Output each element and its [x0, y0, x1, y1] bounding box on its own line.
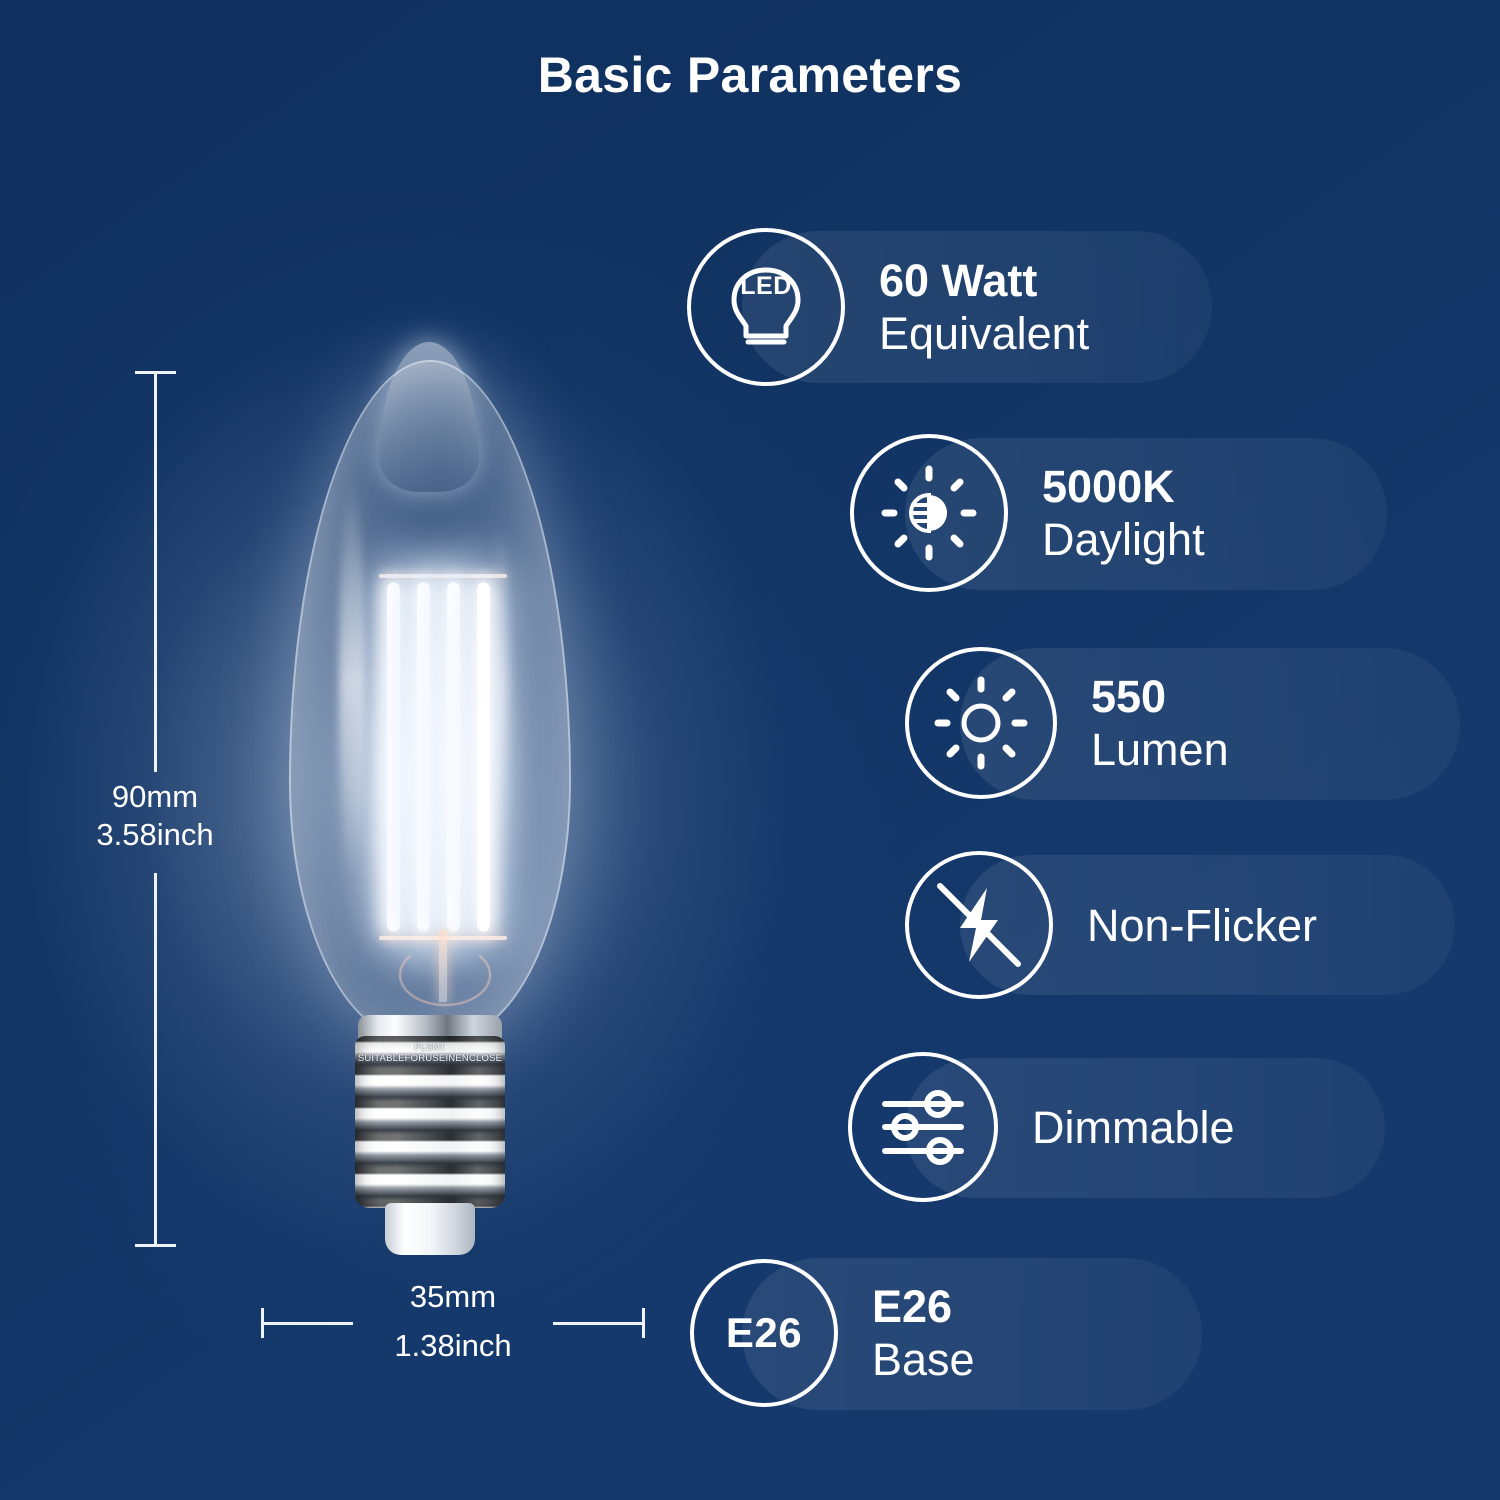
feature-primary: E26	[872, 1280, 975, 1333]
feature-text-dimmable: Dimmable	[1032, 1101, 1235, 1154]
feature-secondary: Base	[872, 1333, 975, 1386]
brightness-sun-icon	[905, 647, 1057, 799]
feature-secondary: Non-Flicker	[1087, 899, 1317, 952]
feature-secondary: Lumen	[1091, 723, 1229, 776]
feature-secondary: Daylight	[1042, 513, 1205, 566]
width-mm: 35mm	[410, 1279, 496, 1314]
width-inch: 1.38inch	[283, 1324, 623, 1368]
feature-primary: 5000K	[1042, 460, 1205, 513]
e26-base-icon: E26	[690, 1259, 838, 1407]
feature-row-non-flicker[interactable]: Non-Flicker	[905, 848, 1317, 1002]
height-inch: 3.58inch	[96, 817, 213, 852]
height-dimension-label: 90mm 3.58inch	[40, 778, 270, 854]
feature-primary: 550	[1091, 670, 1229, 723]
color-temperature-icon	[850, 434, 1008, 592]
feature-text-wattage: 60 Watt Equivalent	[879, 254, 1089, 360]
feature-text-non-flicker: Non-Flicker	[1087, 899, 1317, 952]
e26-icon-label: E26	[726, 1309, 802, 1357]
feature-secondary: Equivalent	[879, 307, 1089, 360]
feature-row-base-type[interactable]: E26 E26 Base	[690, 1250, 975, 1416]
feature-secondary: Dimmable	[1032, 1101, 1235, 1154]
width-dimension-label: 35mm 1.38inch	[283, 1270, 623, 1368]
feature-row-wattage[interactable]: LED 60 Watt Equivalent	[687, 224, 1089, 390]
led-icon-label: LED	[691, 272, 841, 301]
led-bulb-icon: LED	[687, 228, 845, 386]
feature-text-lumen: 550 Lumen	[1091, 670, 1229, 776]
feature-row-dimmable[interactable]: Dimmable	[848, 1050, 1235, 1204]
feature-row-lumen[interactable]: 550 Lumen	[905, 640, 1229, 806]
feature-primary: 60 Watt	[879, 254, 1089, 307]
dimmable-sliders-icon	[848, 1052, 998, 1202]
feature-row-color-temperature[interactable]: 5000K Daylight	[850, 430, 1205, 596]
page-title: Basic Parameters	[0, 46, 1500, 104]
feature-text-base-type: E26 Base	[872, 1280, 975, 1386]
no-flicker-icon	[905, 851, 1053, 999]
height-mm: 90mm	[112, 779, 198, 814]
feature-text-color-temperature: 5000K Daylight	[1042, 460, 1205, 566]
